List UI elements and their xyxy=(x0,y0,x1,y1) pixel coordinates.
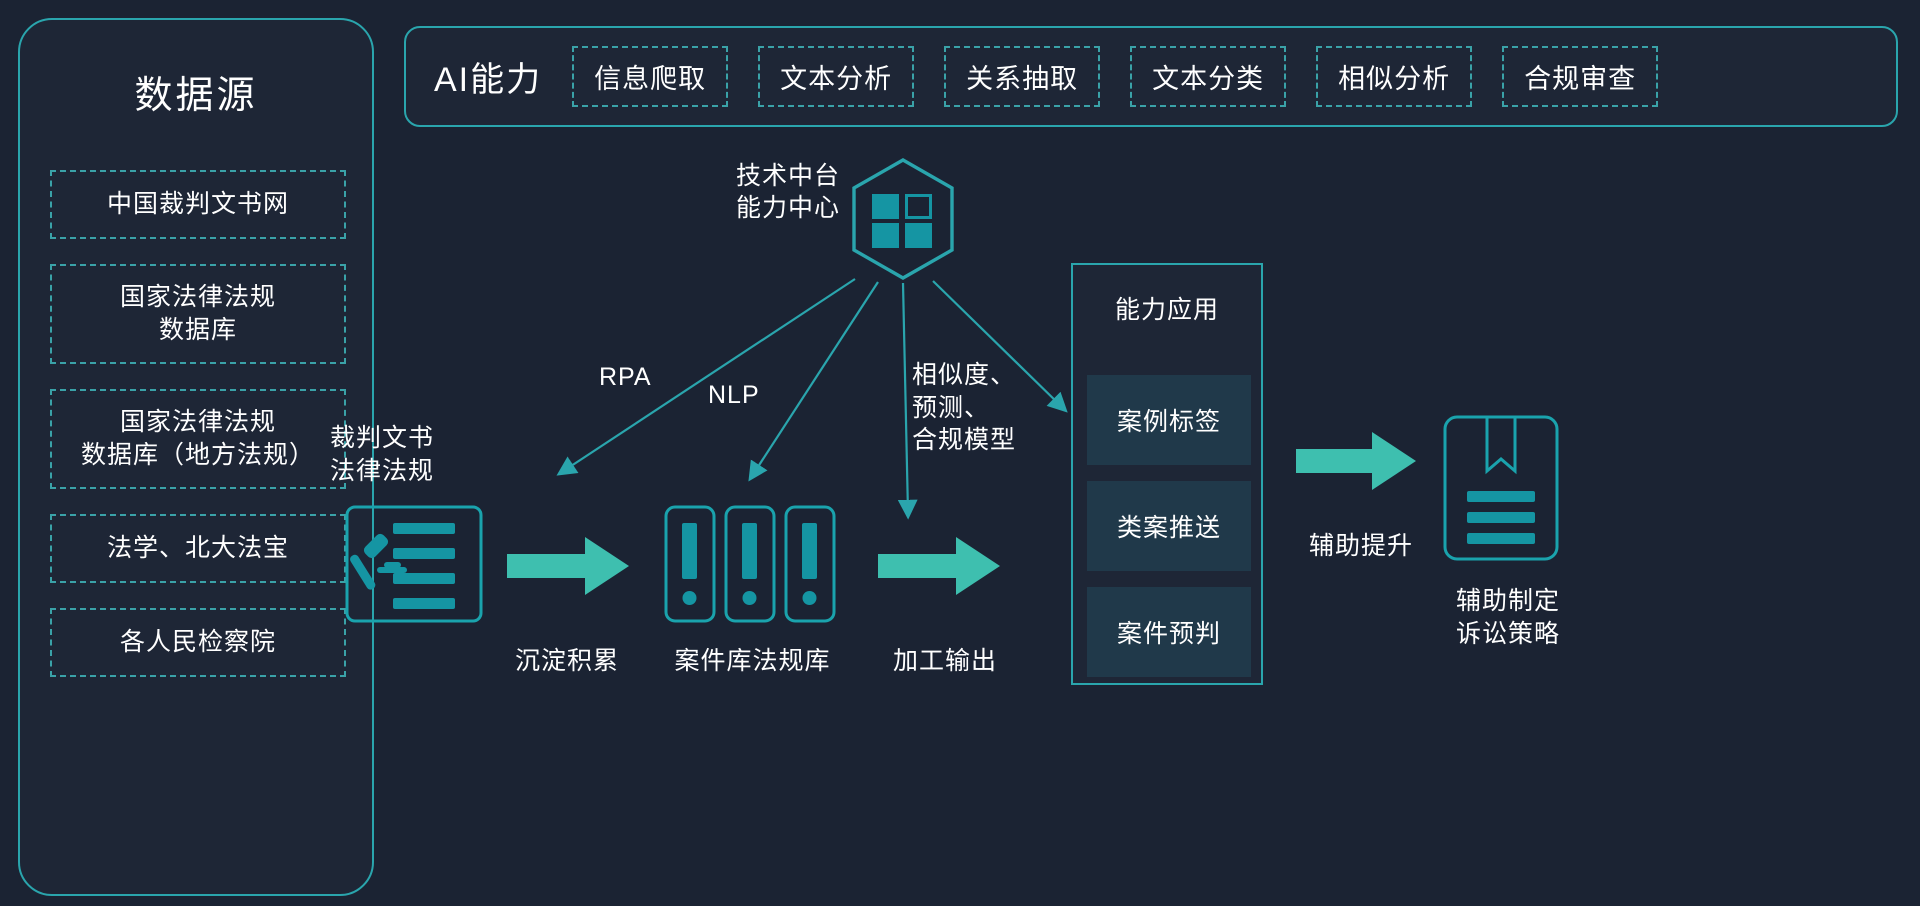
edge-nlp-line xyxy=(752,282,878,476)
tech-center-label: 技术中台 能力中心 xyxy=(690,160,840,224)
data-source-item-1[interactable]: 国家法律法规 数据库 xyxy=(50,264,346,364)
capability-application-items: 案例标签 类案推送 案件预判 xyxy=(1087,375,1251,693)
right-arrow-icon-accumulate xyxy=(507,537,629,595)
edge-label-nlp: NLP xyxy=(708,379,760,412)
data-source-item-2[interactable]: 国家法律法规 数据库（地方法规） xyxy=(50,389,346,489)
ai-capability-chips: 信息爬取 文本分析 关系抽取 文本分类 相似分析 合规审查 xyxy=(572,46,1658,107)
data-source-item-4[interactable]: 各人民检察院 xyxy=(50,608,346,677)
ai-chip-4[interactable]: 相似分析 xyxy=(1316,46,1472,107)
node-caption-case-law-db: 案件库法规库 xyxy=(640,645,865,678)
gavel-document-icon xyxy=(345,505,483,623)
edge-label-similarity: 相似度、 预测、 合规模型 xyxy=(912,359,1016,457)
ai-chip-0[interactable]: 信息爬取 xyxy=(572,46,728,107)
ai-capability-bar: AI能力 信息爬取 文本分析 关系抽取 文本分类 相似分析 合规审查 xyxy=(404,26,1898,127)
hexagon-four-squares-icon xyxy=(849,157,957,281)
bookmarked-document-icon xyxy=(1443,415,1559,561)
node-caption-assist-improve: 辅助提升 xyxy=(1280,530,1442,563)
capability-item-2[interactable]: 案件预判 xyxy=(1087,587,1251,677)
right-arrow-icon-output xyxy=(878,537,1000,595)
node-caption-documents: 裁判文书 法律法规 xyxy=(330,422,500,487)
right-arrow-icon-assist xyxy=(1296,432,1416,490)
capability-item-0[interactable]: 案例标签 xyxy=(1087,375,1251,465)
capability-application-panel: 能力应用 案例标签 类案推送 案件预判 xyxy=(1071,263,1263,685)
data-source-title: 数据源 xyxy=(20,64,372,119)
capability-item-1[interactable]: 类案推送 xyxy=(1087,481,1251,571)
ai-chip-1[interactable]: 文本分析 xyxy=(758,46,914,107)
data-source-item-3[interactable]: 法学、北大法宝 xyxy=(50,514,346,583)
data-source-list: 中国裁判文书网 国家法律法规 数据库 国家法律法规 数据库（地方法规） 法学、北… xyxy=(50,170,346,702)
diagram-canvas: 数据源 中国裁判文书网 国家法律法规 数据库 国家法律法规 数据库（地方法规） … xyxy=(0,0,1920,906)
ai-chip-3[interactable]: 文本分类 xyxy=(1130,46,1286,107)
capability-application-title: 能力应用 xyxy=(1073,290,1261,326)
data-source-item-0[interactable]: 中国裁判文书网 xyxy=(50,170,346,239)
node-caption-processed-output: 加工输出 xyxy=(860,645,1030,678)
node-caption-litigation-strategy: 辅助制定 诉讼策略 xyxy=(1420,585,1596,650)
node-caption-accumulate: 沉淀积累 xyxy=(482,645,652,678)
data-source-panel: 数据源 中国裁判文书网 国家法律法规 数据库 国家法律法规 数据库（地方法规） … xyxy=(18,18,374,896)
server-stack-icon xyxy=(664,505,836,623)
ai-capability-title: AI能力 xyxy=(434,52,542,101)
ai-chip-5[interactable]: 合规审查 xyxy=(1502,46,1658,107)
edge-out-line xyxy=(903,283,908,513)
edge-label-rpa: RPA xyxy=(599,361,652,394)
ai-chip-2[interactable]: 关系抽取 xyxy=(944,46,1100,107)
